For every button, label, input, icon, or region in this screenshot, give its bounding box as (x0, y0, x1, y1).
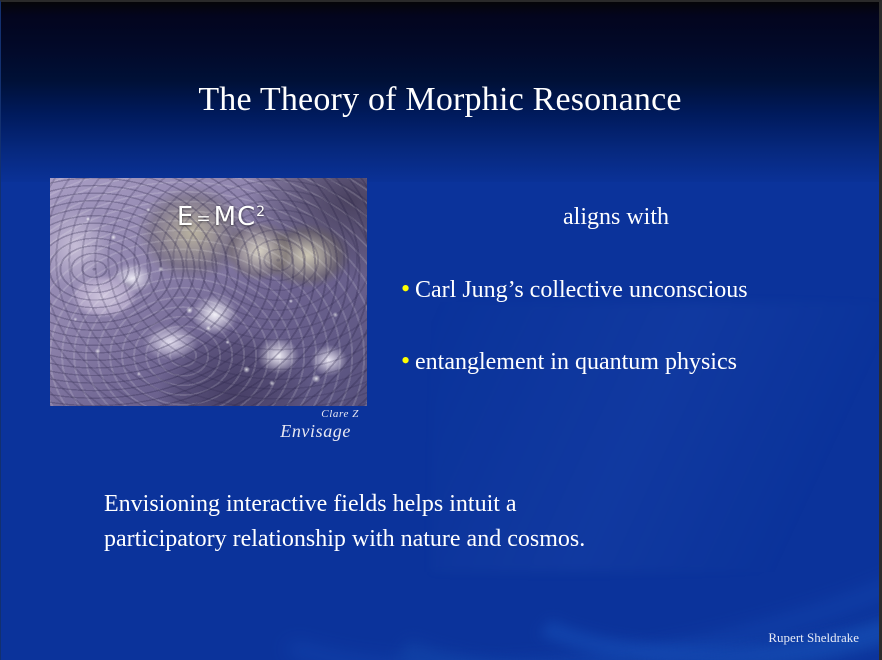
body-line-1: Envisioning interactive fields helps int… (104, 487, 724, 522)
equation-lead: E (177, 202, 194, 232)
bullet-label: Carl Jung’s collective unconscious (415, 275, 853, 305)
equation-overlay: E=MC2 (50, 198, 367, 233)
bullet-item-entanglement: • entanglement in quantum physics (401, 346, 853, 377)
artwork-image: E=MC2 (50, 178, 367, 406)
artwork-credit-brand: Envisage (50, 421, 359, 441)
presentation-slide: The Theory of Morphic Resonance E=MC2 Cl… (0, 0, 882, 660)
lead-in-text: aligns with (401, 202, 853, 232)
body-line-2: participatory relationship with nature a… (104, 522, 724, 557)
bullet-item-jung: • Carl Jung’s collective unconscious (401, 274, 853, 305)
body-paragraph: Envisioning interactive fields helps int… (104, 487, 724, 557)
right-content-column: aligns with • Carl Jung’s collective unc… (401, 202, 853, 377)
attribution-text: Rupert Sheldrake (768, 630, 859, 646)
artwork-credit-name: Clare Z (50, 408, 359, 421)
equation-operator: = (194, 209, 213, 229)
slide-title: The Theory of Morphic Resonance (1, 78, 879, 122)
artwork-credit: Clare Z Envisage (50, 408, 367, 441)
bullet-dot-icon: • (401, 274, 415, 304)
equation-body: MC (214, 202, 257, 232)
bullet-label: entanglement in quantum physics (415, 347, 853, 377)
bullet-dot-icon: • (401, 346, 415, 376)
artwork-block: E=MC2 Clare Z Envisage (50, 178, 367, 406)
equation-exponent: 2 (256, 204, 266, 220)
